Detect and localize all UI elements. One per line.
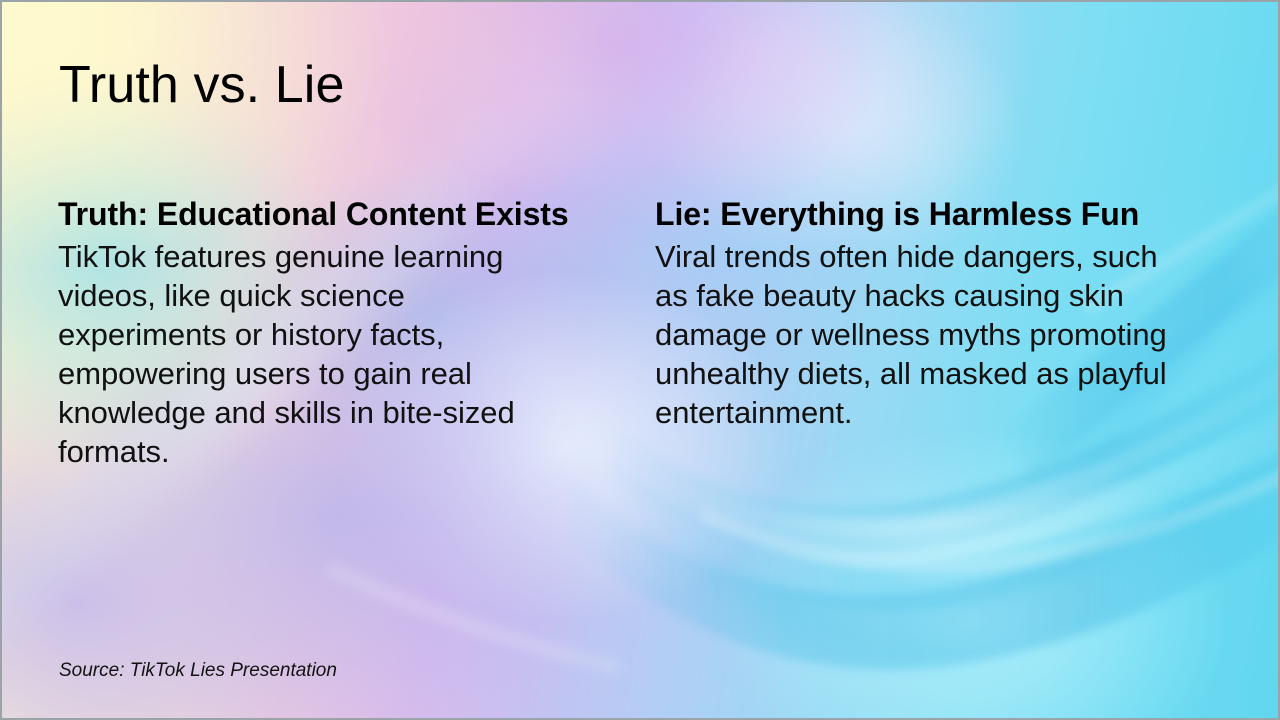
column-lie: Lie: Everything is Harmless Fun Viral tr… bbox=[655, 192, 1175, 432]
source-note: Source: TikTok Lies Presentation bbox=[59, 660, 337, 682]
column-truth: Truth: Educational Content Exists TikTok… bbox=[58, 192, 573, 471]
slide-content: Truth vs. Lie Truth: Educational Content… bbox=[2, 2, 1278, 718]
column-lie-heading: Lie: Everything is Harmless Fun bbox=[655, 192, 1175, 237]
presentation-slide: Truth vs. Lie Truth: Educational Content… bbox=[0, 0, 1280, 720]
column-truth-heading: Truth: Educational Content Exists bbox=[58, 192, 573, 237]
column-lie-body: Viral trends often hide dangers, such as… bbox=[655, 237, 1175, 432]
column-truth-body: TikTok features genuine learning videos,… bbox=[58, 237, 573, 471]
page-title: Truth vs. Lie bbox=[59, 56, 344, 116]
